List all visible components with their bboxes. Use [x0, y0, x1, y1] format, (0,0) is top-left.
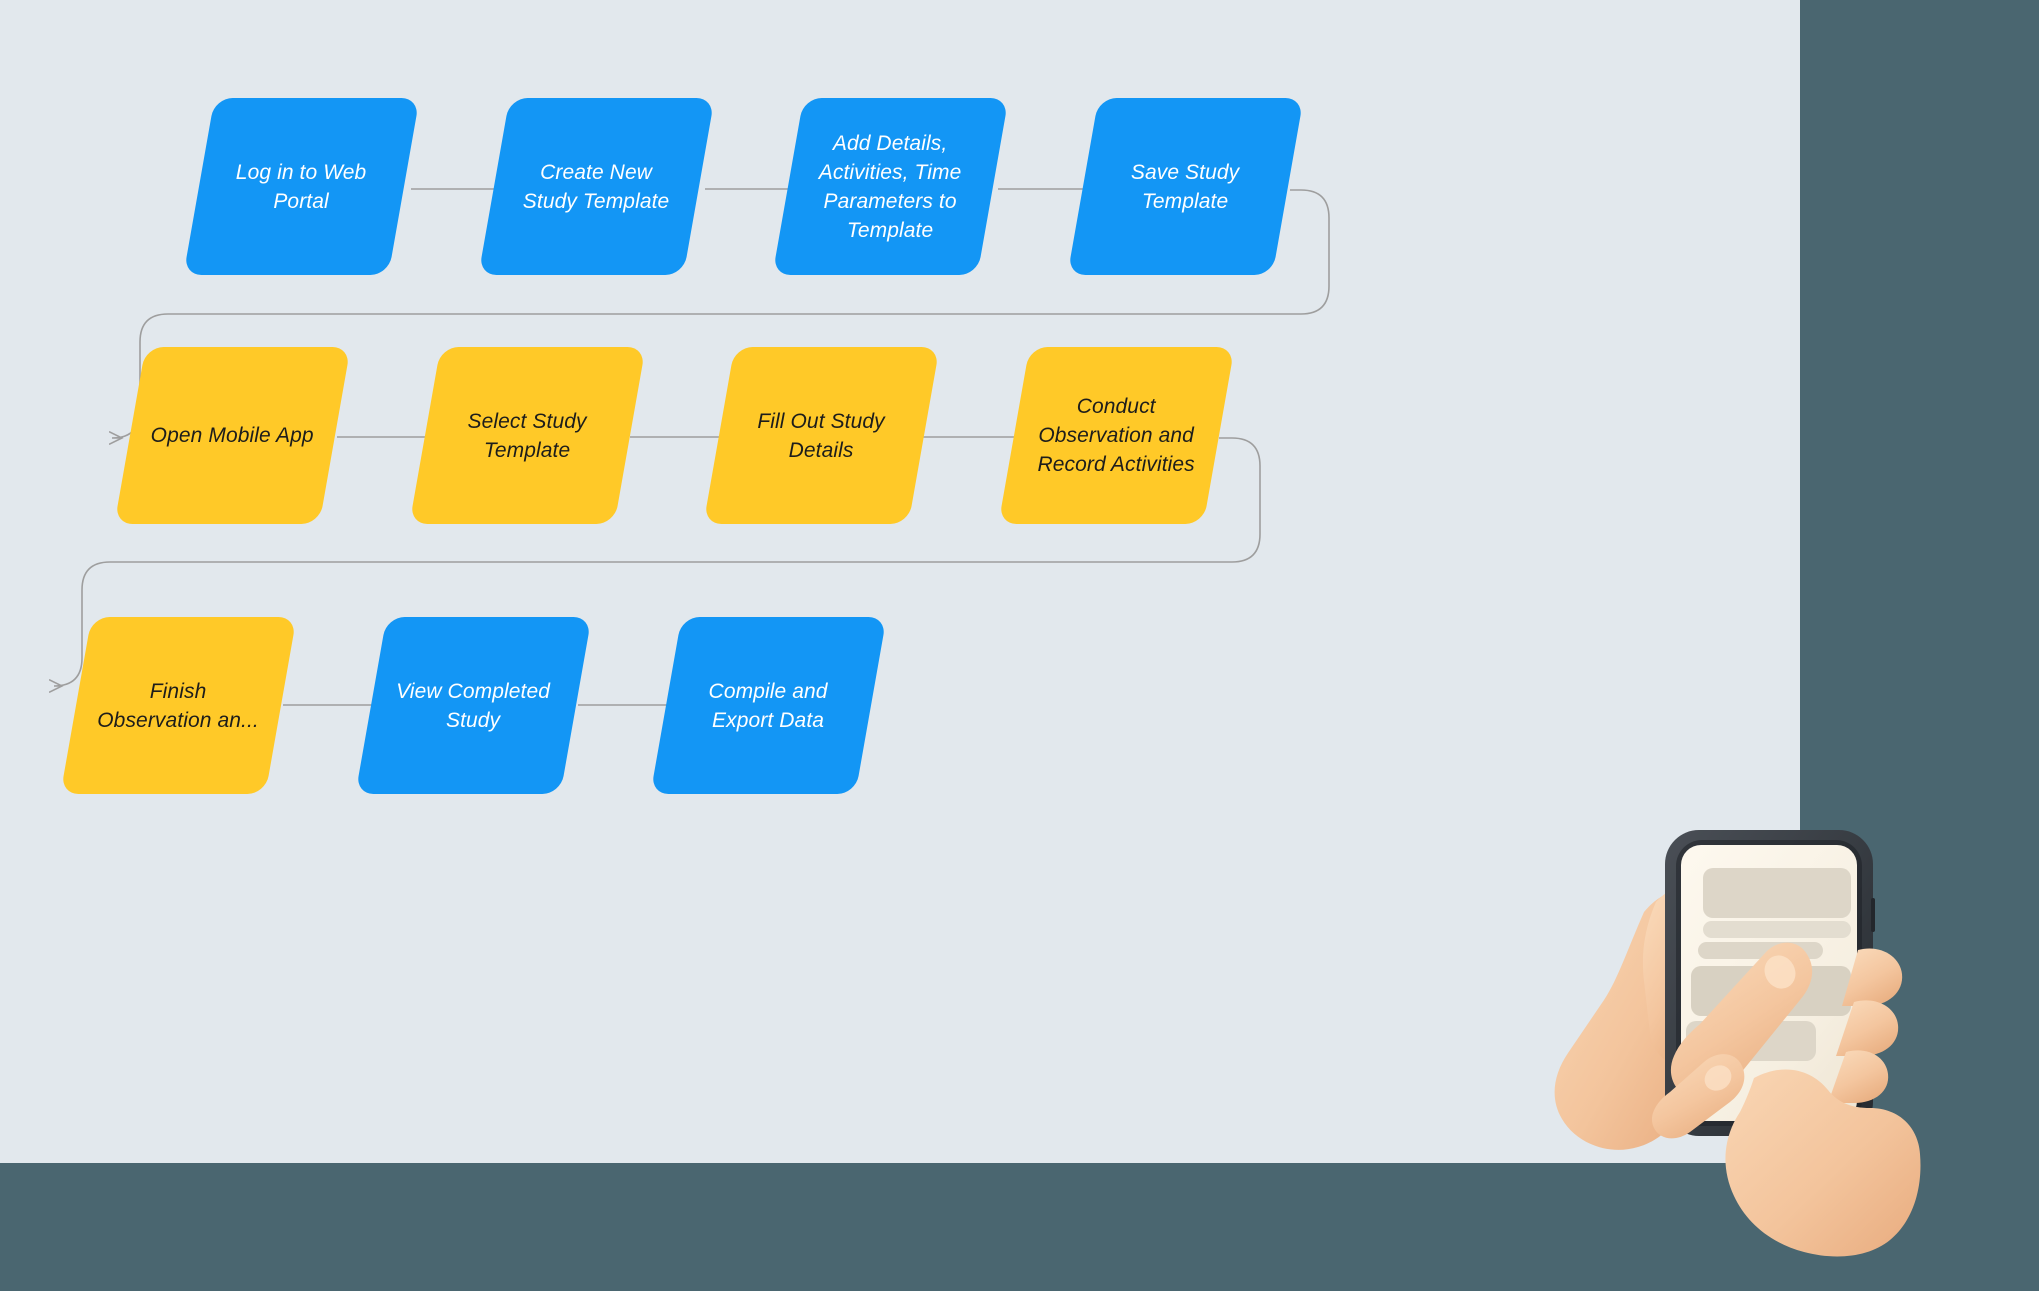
- node-finish-observation[interactable]: Finish Observation an...: [60, 617, 296, 794]
- hands-holding-phone-illustration: [1528, 790, 1948, 1260]
- node-label: Conduct Observation and Record Activitie…: [1028, 392, 1204, 479]
- node-fill-out-study-details[interactable]: Fill Out Study Details: [703, 347, 939, 524]
- node-open-mobile-app[interactable]: Open Mobile App: [114, 347, 350, 524]
- node-label: Save Study Template: [1097, 158, 1273, 216]
- node-label: View Completed Study: [385, 677, 561, 735]
- node-label: Log in to Web Portal: [213, 158, 389, 216]
- node-compile-and-export-data[interactable]: Compile and Export Data: [650, 617, 886, 794]
- node-add-details-activities-time-parameters[interactable]: Add Details, Activities, Time Parameters…: [772, 98, 1008, 275]
- node-create-new-study-template[interactable]: Create New Study Template: [478, 98, 714, 275]
- node-conduct-observation-and-record-activities[interactable]: Conduct Observation and Record Activitie…: [998, 347, 1234, 524]
- node-label: Finish Observation an...: [90, 677, 266, 735]
- node-select-study-template[interactable]: Select Study Template: [409, 347, 645, 524]
- node-save-study-template[interactable]: Save Study Template: [1067, 98, 1303, 275]
- node-label: Open Mobile App: [144, 421, 320, 450]
- flowchart-canvas: Log in to Web Portal Create New Study Te…: [0, 0, 2039, 1291]
- node-label: Compile and Export Data: [680, 677, 856, 735]
- node-label: Select Study Template: [439, 407, 615, 465]
- node-label: Add Details, Activities, Time Parameters…: [802, 129, 978, 245]
- node-log-in-to-web-portal[interactable]: Log in to Web Portal: [183, 98, 419, 275]
- node-label: Fill Out Study Details: [733, 407, 909, 465]
- node-label: Create New Study Template: [508, 158, 684, 216]
- node-view-completed-study[interactable]: View Completed Study: [355, 617, 591, 794]
